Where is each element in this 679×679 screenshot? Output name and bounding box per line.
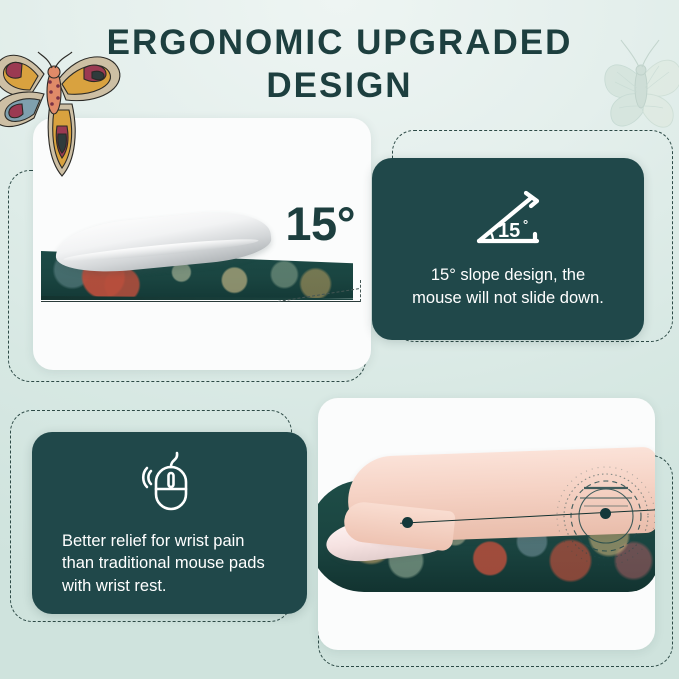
panel-slope-feature: 15 ° 15° slope design, the mouse will no…	[372, 158, 644, 340]
slope-feature-text: 15° slope design, the mouse will not sli…	[412, 264, 604, 309]
angle-ruler-icon: 15 °	[471, 189, 545, 254]
hand-on-wrist-rest-scene	[318, 398, 655, 650]
angle-guide-tick	[360, 280, 361, 302]
angle-value-label: 15°	[285, 196, 355, 251]
trace-point-wrist-end	[600, 508, 611, 519]
panel-hand-on-wrist-rest-photo	[318, 398, 655, 650]
svg-text:°: °	[523, 217, 528, 232]
wrist-relief-feature-text: Better relief for wrist pain than tradit…	[48, 530, 265, 597]
ground-reference-line	[41, 301, 361, 302]
computer-mouse-icon	[138, 449, 202, 520]
panel-wrist-relief-feature: Better relief for wrist pain than tradit…	[32, 432, 307, 614]
page-title: ERGONOMIC UPGRADED DESIGN	[0, 22, 679, 107]
svg-text:15: 15	[498, 220, 520, 242]
trace-point-wrist-start	[402, 517, 413, 528]
